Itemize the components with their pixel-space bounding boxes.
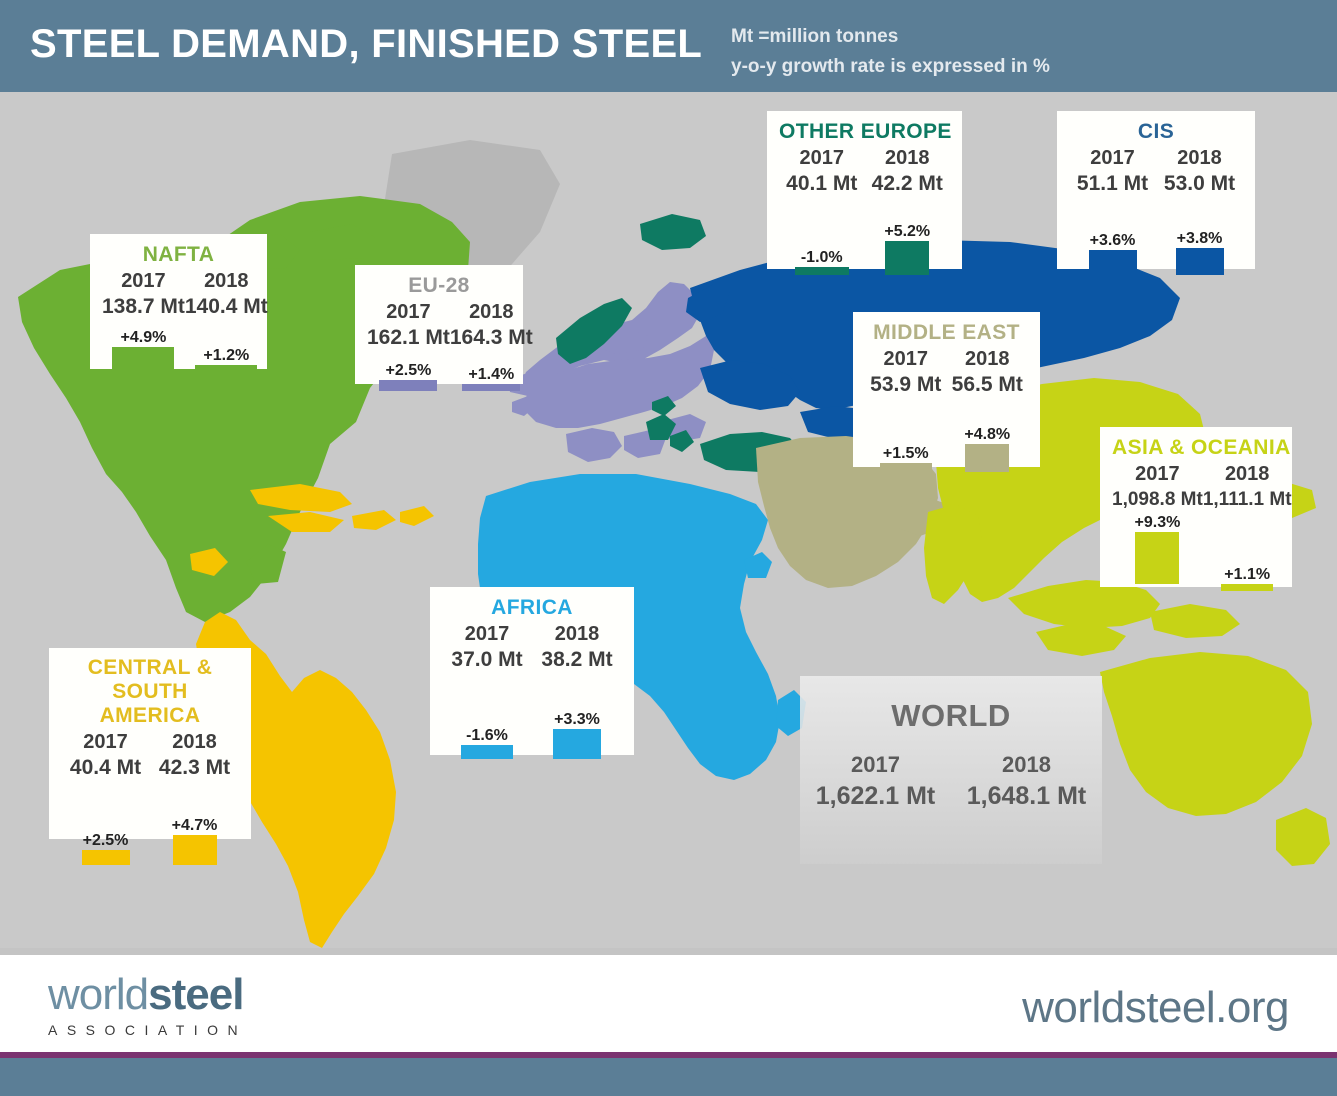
card-col-2017: 2017 37.0 Mt -1.6% (442, 622, 532, 759)
card-asia-oceania[interactable]: ASIA & OCEANIA 2017 1,098.8 Mt +9.3% 201… (1100, 427, 1292, 587)
value-2018: 140.4 Mt (185, 294, 268, 320)
card-africa[interactable]: AFRICA 2017 37.0 Mt -1.6% 2018 38.2 Mt +… (430, 587, 634, 755)
card-col-2018: 2018 140.4 Mt +1.2% (185, 269, 268, 374)
year-label-2017: 2017 (1090, 146, 1135, 171)
year-label-2018: 2018 (172, 730, 217, 755)
page-title: STEEL DEMAND, FINISHED STEEL (30, 22, 702, 67)
bottom-accent-bar (0, 1058, 1337, 1096)
year-label-2018: 2018 (951, 750, 1102, 780)
growth-2017: +9.3% (1135, 513, 1181, 532)
growth-2017: +3.6% (1090, 231, 1136, 250)
card-col-2018: 2018 53.0 Mt +3.8% (1156, 146, 1243, 275)
value-2017: 162.1 Mt (367, 325, 450, 351)
value-2018: 53.0 Mt (1164, 171, 1235, 197)
growth-bar-2018 (462, 384, 520, 391)
year-label-2018: 2018 (469, 300, 514, 325)
card-title-cis: CIS (1069, 119, 1243, 144)
card-middle-east[interactable]: MIDDLE EAST 2017 53.9 Mt +1.5% 2018 56.5… (853, 312, 1040, 467)
growth-2017: +2.5% (83, 831, 129, 850)
year-label-2018: 2018 (965, 347, 1010, 372)
card-title-nafta: NAFTA (102, 242, 255, 267)
logo-world-text: world (48, 970, 148, 1019)
card-central-south-america[interactable]: CENTRAL & SOUTH AMERICA 2017 40.4 Mt +2.… (49, 648, 251, 839)
card-nafta[interactable]: NAFTA 2017 138.7 Mt +4.9% 2018 140.4 Mt … (90, 234, 267, 369)
growth-2018: +3.8% (1177, 229, 1223, 248)
value-2018: 1,111.1 Mt (1203, 487, 1292, 513)
card-col-2018: 2018 42.2 Mt +5.2% (865, 146, 951, 275)
card-col-2017: 2017 162.1 Mt +2.5% (367, 300, 450, 391)
card-col-2017: 2017 53.9 Mt +1.5% (865, 347, 947, 472)
year-label-2017: 2017 (800, 750, 951, 780)
footer-website-link[interactable]: worldsteel.org (1022, 983, 1289, 1033)
value-2018: 38.2 Mt (541, 647, 612, 673)
year-label-2017: 2017 (83, 730, 128, 755)
logo-steel-text: steel (148, 970, 243, 1019)
card-title-asia-oceania: ASIA & OCEANIA (1112, 435, 1280, 460)
year-label-2018: 2018 (1177, 146, 1222, 171)
card-col-2017: 2017 138.7 Mt +4.9% (102, 269, 185, 374)
card-col-2017: 2017 1,622.1 Mt (800, 750, 951, 812)
value-2018: 164.3 Mt (450, 325, 533, 351)
value-2017: 40.4 Mt (70, 755, 141, 781)
growth-2018: +1.4% (468, 365, 514, 384)
growth-2018: +4.7% (172, 816, 218, 835)
card-other-europe[interactable]: OTHER EUROPE 2017 40.1 Mt -1.0% 2018 42.… (767, 111, 962, 269)
year-label-2018: 2018 (204, 269, 249, 294)
card-col-2018: 2018 1,111.1 Mt +1.1% (1203, 462, 1292, 591)
growth-bar-2017 (880, 463, 932, 472)
growth-bar-2017 (112, 347, 174, 374)
growth-2017: -1.6% (466, 726, 508, 745)
card-world[interactable]: WORLD 2017 1,622.1 Mt 2018 1,648.1 Mt (800, 676, 1102, 864)
card-col-2018: 2018 42.3 Mt +4.7% (150, 730, 239, 865)
value-2017: 1,622.1 Mt (800, 780, 951, 812)
card-cis[interactable]: CIS 2017 51.1 Mt +3.6% 2018 53.0 Mt +3.8… (1057, 111, 1255, 269)
growth-bar-2018 (1221, 584, 1273, 591)
year-label-2017: 2017 (800, 146, 845, 171)
growth-bar-2017 (1089, 250, 1137, 275)
growth-bar-2018 (553, 729, 601, 759)
footer-bar: worldsteel ASSOCIATION worldsteel.org (0, 955, 1337, 1052)
card-title-eu28: EU-28 (367, 273, 511, 298)
growth-2018: +4.8% (964, 425, 1010, 444)
card-col-2017: 2017 51.1 Mt +3.6% (1069, 146, 1156, 275)
header-bar: STEEL DEMAND, FINISHED STEEL Mt =million… (0, 0, 1337, 92)
card-col-2017: 2017 1,098.8 Mt +9.3% (1112, 462, 1203, 591)
growth-2017: -1.0% (801, 248, 843, 267)
year-label-2017: 2017 (465, 622, 510, 647)
growth-2017: +1.5% (883, 444, 929, 463)
header-legend-note: Mt =million tonnes y-o-y growth rate is … (731, 22, 1050, 82)
card-col-2017: 2017 40.4 Mt +2.5% (61, 730, 150, 865)
card-col-2018: 2018 38.2 Mt +3.3% (532, 622, 622, 759)
note-unit-line: Mt =million tonnes (731, 22, 1050, 52)
value-2018: 56.5 Mt (952, 372, 1023, 398)
year-label-2018: 2018 (1225, 462, 1270, 487)
value-2017: 37.0 Mt (451, 647, 522, 673)
year-label-2017: 2017 (884, 347, 929, 372)
growth-bar-2017 (795, 267, 849, 275)
year-label-2017: 2017 (121, 269, 166, 294)
value-2017: 138.7 Mt (102, 294, 185, 320)
growth-2017: +2.5% (386, 361, 432, 380)
growth-2018: +1.2% (203, 346, 249, 365)
growth-bar-2018 (195, 365, 257, 374)
growth-2017: +4.9% (121, 328, 167, 347)
value-2017: 40.1 Mt (786, 171, 857, 197)
map-bottom-edge (0, 948, 1337, 955)
growth-bar-2017 (1135, 532, 1179, 584)
card-col-2018: 2018 164.3 Mt +1.4% (450, 300, 533, 391)
card-title-other-europe: OTHER EUROPE (779, 119, 950, 144)
logo-wordmark: worldsteel (48, 970, 247, 1020)
year-label-2018: 2018 (555, 622, 600, 647)
value-2018: 1,648.1 Mt (951, 780, 1102, 812)
infographic-root: STEEL DEMAND, FINISHED STEEL Mt =million… (0, 0, 1337, 1096)
card-eu28[interactable]: EU-28 2017 162.1 Mt +2.5% 2018 164.3 Mt … (355, 265, 523, 384)
growth-2018: +1.1% (1224, 565, 1270, 584)
value-2017: 1,098.8 Mt (1112, 487, 1203, 513)
value-2018: 42.2 Mt (872, 171, 943, 197)
growth-2018: +5.2% (884, 222, 930, 241)
year-label-2017: 2017 (386, 300, 431, 325)
growth-bar-2018 (965, 444, 1009, 472)
value-2017: 53.9 Mt (870, 372, 941, 398)
card-col-2017: 2017 40.1 Mt -1.0% (779, 146, 865, 275)
growth-bar-2017 (379, 380, 437, 391)
card-title-middle-east: MIDDLE EAST (865, 320, 1028, 345)
card-title-africa: AFRICA (442, 595, 622, 620)
growth-bar-2017 (82, 850, 130, 865)
growth-bar-2018 (885, 241, 929, 275)
year-label-2018: 2018 (885, 146, 930, 171)
note-growth-line: y-o-y growth rate is expressed in % (731, 52, 1050, 82)
card-col-2018: 2018 1,648.1 Mt (951, 750, 1102, 812)
card-title-central-south-america: CENTRAL & SOUTH AMERICA (61, 656, 239, 728)
logo-association-text: ASSOCIATION (48, 1022, 247, 1038)
value-2018: 42.3 Mt (159, 755, 230, 781)
card-col-2018: 2018 56.5 Mt +4.8% (947, 347, 1029, 472)
card-title-world: WORLD (800, 698, 1102, 734)
year-label-2017: 2017 (1135, 462, 1180, 487)
world-map: NAFTA 2017 138.7 Mt +4.9% 2018 140.4 Mt … (0, 92, 1337, 955)
worldsteel-logo[interactable]: worldsteel ASSOCIATION (48, 970, 247, 1038)
growth-2018: +3.3% (554, 710, 600, 729)
growth-bar-2018 (1176, 248, 1224, 275)
growth-bar-2018 (173, 835, 217, 865)
growth-bar-2017 (461, 745, 513, 759)
value-2017: 51.1 Mt (1077, 171, 1148, 197)
